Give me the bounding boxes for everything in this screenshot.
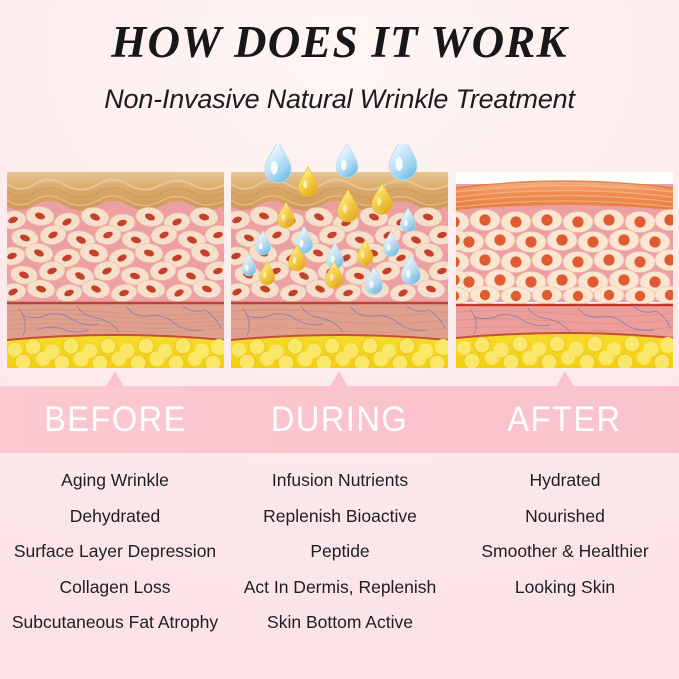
- list-item: Aging Wrinkle: [0, 472, 230, 490]
- stage-list-during: Infusion Nutrients Replenish Bioactive P…: [225, 472, 455, 650]
- stage-pointer-during: [330, 371, 348, 387]
- stage-label-during: DURING: [239, 386, 441, 453]
- list-item: Nourished: [450, 508, 679, 526]
- list-item: Collagen Loss: [0, 579, 230, 597]
- stage-illustration-during: [231, 144, 448, 372]
- stage-label-after: AFTER: [464, 386, 666, 453]
- stage-list-before: Aging Wrinkle Dehydrated Surface Layer D…: [0, 472, 230, 650]
- stage-banner: BEFORE DURING AFTER: [0, 386, 679, 453]
- page-subtitle: Non-Invasive Natural Wrinkle Treatment: [0, 84, 679, 115]
- stage-pointer-after: [556, 371, 574, 387]
- list-item: Smoother & Healthier: [450, 543, 679, 561]
- list-item: Surface Layer Depression: [0, 543, 230, 561]
- list-item: Hydrated: [450, 472, 679, 490]
- list-item: Act In Dermis, Replenish: [225, 579, 455, 597]
- list-item: Infusion Nutrients: [225, 472, 455, 490]
- skin-cross-section-wrinkled-svg: [7, 144, 224, 372]
- skin-cross-section-smooth-svg: [456, 144, 673, 372]
- stage-label-before: BEFORE: [15, 386, 217, 453]
- infographic-page: HOW DOES IT WORK Non-Invasive Natural Wr…: [0, 0, 679, 679]
- list-item: Skin Bottom Active: [225, 614, 455, 632]
- stage-illustration-after: [456, 144, 673, 372]
- page-title: HOW DOES IT WORK: [0, 16, 679, 68]
- stage-pointer-before: [106, 371, 124, 387]
- stage-list-after: Hydrated Nourished Smoother & Healthier …: [450, 472, 679, 614]
- list-item: Subcutaneous Fat Atrophy: [0, 614, 230, 632]
- list-item: Dehydrated: [0, 508, 230, 526]
- list-item: Looking Skin: [450, 579, 679, 597]
- list-item: Peptide: [225, 543, 455, 561]
- skin-cross-section-with-droplets-svg: [231, 144, 448, 372]
- stage-illustration-before: [7, 144, 224, 372]
- list-item: Replenish Bioactive: [225, 508, 455, 526]
